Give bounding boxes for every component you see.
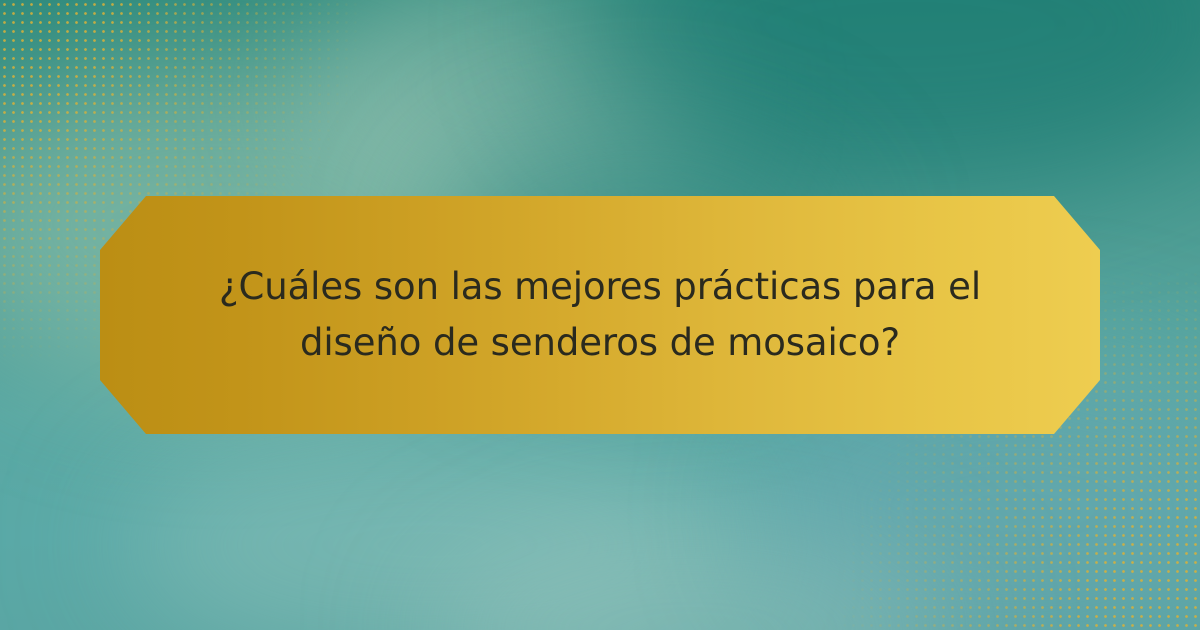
question-banner: ¿Cuáles son las mejores prácticas para e… xyxy=(100,196,1100,434)
question-text: ¿Cuáles son las mejores prácticas para e… xyxy=(100,259,1100,371)
question-card: ¿Cuáles son las mejores prácticas para e… xyxy=(0,0,1200,630)
